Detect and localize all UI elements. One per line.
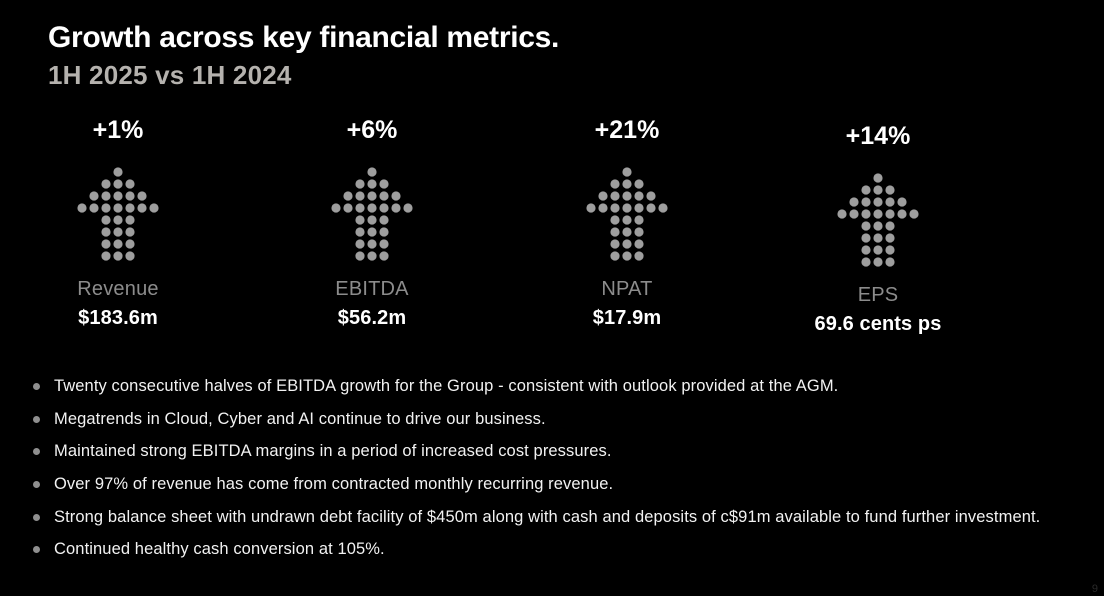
metric-card-npat: +21% NPAT $17.9m [517, 118, 737, 328]
metric-growth-percent: +21% [517, 118, 737, 148]
list-item-text: Megatrends in Cloud, Cyber and AI contin… [54, 410, 546, 428]
list-item-text: Over 97% of revenue has come from contra… [54, 475, 613, 493]
bullet-dot-icon [33, 546, 40, 553]
metric-value: $183.6m [8, 308, 228, 328]
metric-value: $56.2m [262, 308, 482, 328]
bullet-dot-icon [33, 514, 40, 521]
metric-value: 69.6 cents ps [768, 314, 988, 334]
metrics-row: +1% Revenue $183.6m +6% [0, 118, 1104, 358]
metric-label: Revenue [8, 279, 228, 299]
page-number: 9 [1092, 583, 1098, 595]
list-item-text: Continued healthy cash conversion at 105… [54, 540, 385, 558]
bullet-dot-icon [33, 383, 40, 390]
list-item-text: Twenty consecutive halves of EBITDA grow… [54, 377, 838, 395]
metric-growth-percent: +1% [8, 118, 228, 148]
list-item: Megatrends in Cloud, Cyber and AI contin… [30, 409, 1096, 430]
metric-label: NPAT [517, 279, 737, 299]
metric-growth-percent: +14% [768, 124, 988, 154]
key-points-list: Twenty consecutive halves of EBITDA grow… [30, 376, 1096, 560]
up-arrow-dots-icon [77, 166, 159, 262]
list-item-text: Strong balance sheet with undrawn debt f… [54, 508, 1040, 526]
list-item: Twenty consecutive halves of EBITDA grow… [30, 376, 1096, 397]
metric-card-eps: +14% EPS 69.6 cents ps [768, 124, 988, 334]
page-subtitle: 1H 2025 vs 1H 2024 [48, 59, 1068, 92]
metric-growth-percent: +6% [262, 118, 482, 148]
list-item-text: Maintained strong EBITDA margins in a pe… [54, 442, 612, 460]
list-item: Maintained strong EBITDA margins in a pe… [30, 441, 1096, 462]
bullet-dot-icon [33, 481, 40, 488]
metric-value: $17.9m [517, 308, 737, 328]
slide-header: Growth across key financial metrics. 1H … [48, 20, 1068, 91]
up-arrow-dots-icon [586, 166, 668, 262]
metric-label: EPS [768, 285, 988, 305]
list-item: Over 97% of revenue has come from contra… [30, 474, 1096, 495]
metric-card-ebitda: +6% EBITDA $56.2m [262, 118, 482, 328]
up-arrow-dots-icon [837, 172, 919, 268]
metric-card-revenue: +1% Revenue $183.6m [8, 118, 228, 328]
list-item: Continued healthy cash conversion at 105… [30, 539, 1096, 560]
bullet-dot-icon [33, 416, 40, 423]
bullet-dot-icon [33, 448, 40, 455]
page-title: Growth across key financial metrics. [48, 20, 1068, 57]
up-arrow-dots-icon [331, 166, 413, 262]
metric-label: EBITDA [262, 279, 482, 299]
slide: Growth across key financial metrics. 1H … [0, 0, 1104, 596]
list-item: Strong balance sheet with undrawn debt f… [30, 507, 1096, 528]
